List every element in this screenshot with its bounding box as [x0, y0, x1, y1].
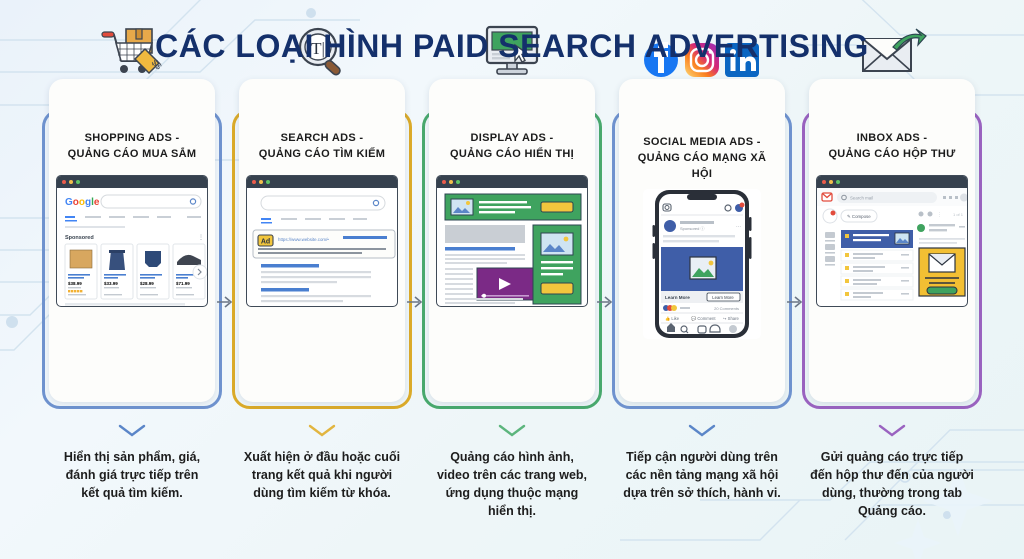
svg-text:$71.99: $71.99: [176, 281, 190, 286]
card-caption: Xuất hiện ở đầu hoặc cuối trang kết quả …: [226, 448, 418, 502]
svg-text:Google: Google: [65, 197, 100, 208]
svg-text:1 of 1: 1 of 1: [953, 212, 964, 217]
card-column-shopping-ads: $$ SHOPPING ADS - QUẢNG CÁO MUA SẮM Goog…: [37, 73, 227, 502]
card-inbox-ads[interactable]: INBOX ADS - QUẢNG CÁO HỘP THƯ Search mai…: [802, 109, 982, 409]
svg-text:✎ Compose: ✎ Compose: [847, 214, 871, 219]
display-ads-mock: [436, 175, 588, 307]
card-row: $$ SHOPPING ADS - QUẢNG CÁO MUA SẮM Goog…: [0, 73, 1024, 521]
card-column-inbox-ads: INBOX ADS - QUẢNG CÁO HỘP THƯ Search mai…: [797, 73, 987, 521]
gmail-inbox-mock: Search mail ✎ Compose: [816, 175, 968, 307]
svg-text:Sponsored: Sponsored: [65, 235, 94, 241]
svg-text:↪ Share: ↪ Share: [723, 316, 740, 321]
search-results-mock: Ad https://www.website.com/•: [246, 175, 398, 307]
svg-text:Sponsored ⓘ: Sponsored ⓘ: [680, 225, 704, 231]
flow-arrow-icon: [785, 294, 805, 315]
card-column-social-media-ads: SOCIAL MEDIA ADS - QUẢNG CÁO MẠNG XÃ HỘI: [607, 73, 797, 502]
svg-text:$28.99: $28.99: [140, 281, 154, 286]
card-column-search-ads: T| SEARCH ADS - QUẢNG CÁO TÌM KIẾM: [227, 73, 417, 502]
card-caption: Tiếp cận người dùng trên các nền tảng mạ…: [606, 448, 798, 502]
svg-text:Search mail: Search mail: [850, 195, 873, 200]
svg-text:👍 Like: 👍 Like: [665, 316, 680, 321]
card-search-ads[interactable]: T| SEARCH ADS - QUẢNG CÁO TÌM KIẾM: [232, 109, 412, 409]
svg-text:⋮: ⋮: [198, 235, 204, 241]
svg-text:20 Comments: 20 Comments: [714, 306, 739, 311]
svg-text:$38.99: $38.99: [68, 281, 82, 286]
card-display-ads[interactable]: DISPLAY ADS - QUẢNG CÁO HIỂN THỊ: [422, 109, 602, 409]
chevron-down-icon: [117, 423, 147, 442]
flow-arrow-icon: [405, 294, 425, 315]
card-title: DISPLAY ADS - QUẢNG CÁO HIỂN THỊ: [444, 131, 580, 163]
chevron-down-icon: [877, 423, 907, 442]
card-caption: Quảng cáo hình ảnh, video trên các trang…: [416, 448, 608, 521]
phone-social-feed-mock: Sponsored ⓘ ··· Learn More Learn More: [643, 189, 761, 339]
card-caption: Hiển thị sản phẩm, giá, đánh giá trực ti…: [36, 448, 228, 502]
chevron-down-icon: [497, 423, 527, 442]
chevron-down-icon: [307, 423, 337, 442]
svg-text:···: ···: [736, 224, 741, 230]
page-title: CÁC LOẠI HÌNH PAID SEARCH ADVERTISING: [0, 0, 1024, 65]
ad-callout: Ad https://www.website.com/•: [253, 230, 395, 258]
svg-text:⋮: ⋮: [937, 212, 942, 218]
svg-text:Learn More: Learn More: [665, 295, 690, 300]
flow-arrow-icon: [215, 294, 235, 315]
card-title: SEARCH ADS - QUẢNG CÁO TÌM KIẾM: [253, 131, 391, 163]
svg-text:💬 Comment: 💬 Comment: [691, 316, 716, 321]
flow-arrow-icon: [595, 294, 615, 315]
svg-text:https://www.website.com/•: https://www.website.com/•: [278, 237, 329, 242]
chevron-down-icon: [687, 423, 717, 442]
card-column-display-ads: DISPLAY ADS - QUẢNG CÁO HIỂN THỊ: [417, 73, 607, 521]
card-social-media-ads[interactable]: SOCIAL MEDIA ADS - QUẢNG CÁO MẠNG XÃ HỘI: [612, 109, 792, 409]
card-shopping-ads[interactable]: $$ SHOPPING ADS - QUẢNG CÁO MUA SẮM Goog…: [42, 109, 222, 409]
svg-text:Learn More: Learn More: [712, 295, 734, 300]
card-title: SOCIAL MEDIA ADS - QUẢNG CÁO MẠNG XÃ HỘI: [632, 135, 773, 183]
card-title: INBOX ADS - QUẢNG CÁO HỘP THƯ: [822, 131, 961, 163]
svg-text:Ad: Ad: [261, 238, 270, 245]
card-caption: Gửi quảng cáo trực tiếp đến hộp thư đến …: [796, 448, 988, 521]
card-title: SHOPPING ADS - QUẢNG CÁO MUA SẮM: [62, 131, 203, 163]
svg-text:$33.99: $33.99: [104, 281, 118, 286]
google-shopping-mock: Google Sponsored ⋮ $38.99: [56, 175, 208, 307]
